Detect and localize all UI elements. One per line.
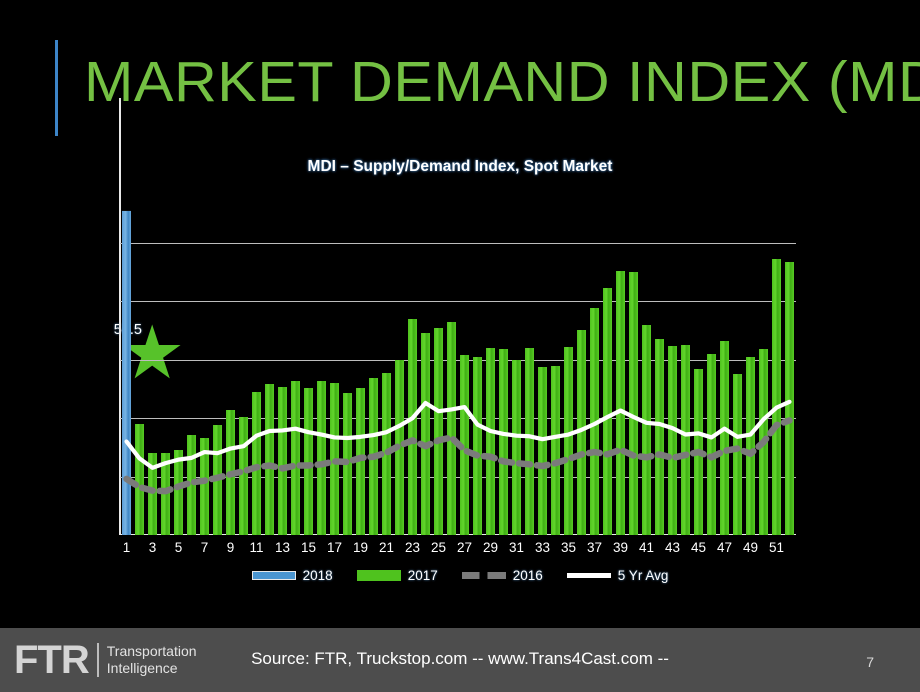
- legend-item[interactable]: 5 Yr Avg: [567, 568, 669, 583]
- chart-container: MDI – Supply/Demand Index, Spot Market 5…: [0, 150, 920, 610]
- page-title: MARKET DEMAND INDEX (MDI): [84, 46, 920, 118]
- plot-area: 01020304050 1357911131517192123252729313…: [120, 202, 796, 535]
- title-accent-bar: [55, 40, 58, 136]
- x-axis-tick-label: 3: [140, 540, 166, 555]
- line-series-overlay: [120, 202, 796, 535]
- x-axis-tick-label: 13: [270, 540, 296, 555]
- legend-swatch-dashed-line-icon: [462, 572, 506, 579]
- legend-item[interactable]: 2018: [252, 568, 333, 583]
- legend-item[interactable]: 2017: [357, 568, 438, 583]
- x-axis-tick-label: 19: [348, 540, 374, 555]
- x-axis-tick-label: 47: [712, 540, 738, 555]
- x-axis-tick-label: 37: [582, 540, 608, 555]
- legend-label: 2017: [408, 568, 438, 583]
- x-axis-tick-label: 17: [322, 540, 348, 555]
- line-2016: [127, 420, 790, 491]
- x-axis-tick-label: 23: [400, 540, 426, 555]
- x-axis-tick-label: 25: [426, 540, 452, 555]
- x-axis-tick-label: 51: [764, 540, 790, 555]
- x-axis-tick-label: 31: [504, 540, 530, 555]
- x-axis-tick-label: 43: [660, 540, 686, 555]
- x-axis-tick-label: 45: [686, 540, 712, 555]
- legend-label: 2016: [513, 568, 543, 583]
- x-axis-tick-label: 9: [218, 540, 244, 555]
- x-axis-tick-label: 11: [244, 540, 270, 555]
- x-axis-tick-label: 49: [738, 540, 764, 555]
- x-axis-tick-label: 41: [634, 540, 660, 555]
- x-axis-tick-label: 35: [556, 540, 582, 555]
- x-axis-tick-label: 7: [192, 540, 218, 555]
- x-axis-tick-label: 1: [114, 540, 140, 555]
- x-axis-tick-label: 5: [166, 540, 192, 555]
- x-axis-tick-label: 27: [452, 540, 478, 555]
- legend-label: 5 Yr Avg: [618, 568, 669, 583]
- chart-title: MDI – Supply/Demand Index, Spot Market: [0, 158, 920, 176]
- chart-legend: 2018201720165 Yr Avg: [0, 568, 920, 583]
- legend-swatch-line-icon: [567, 573, 611, 578]
- x-axis-tick-label: 29: [478, 540, 504, 555]
- source-text: Source: FTR, Truckstop.com -- www.Trans4…: [0, 649, 920, 669]
- slide-footer: FTR Transportation Intelligence Source: …: [0, 628, 920, 692]
- line-5yr-avg: [127, 402, 790, 468]
- x-axis-tick-label: 21: [374, 540, 400, 555]
- legend-label: 2018: [303, 568, 333, 583]
- page-number: 7: [866, 654, 874, 670]
- slide: MARKET DEMAND INDEX (MDI) MDI – Supply/D…: [0, 0, 920, 692]
- x-axis-tick-label: 33: [530, 540, 556, 555]
- x-axis-tick-label: 15: [296, 540, 322, 555]
- legend-swatch-bar-icon: [357, 570, 401, 581]
- x-axis-tick-label: 39: [608, 540, 634, 555]
- legend-swatch-bar-icon: [252, 571, 296, 580]
- legend-item[interactable]: 2016: [462, 568, 543, 583]
